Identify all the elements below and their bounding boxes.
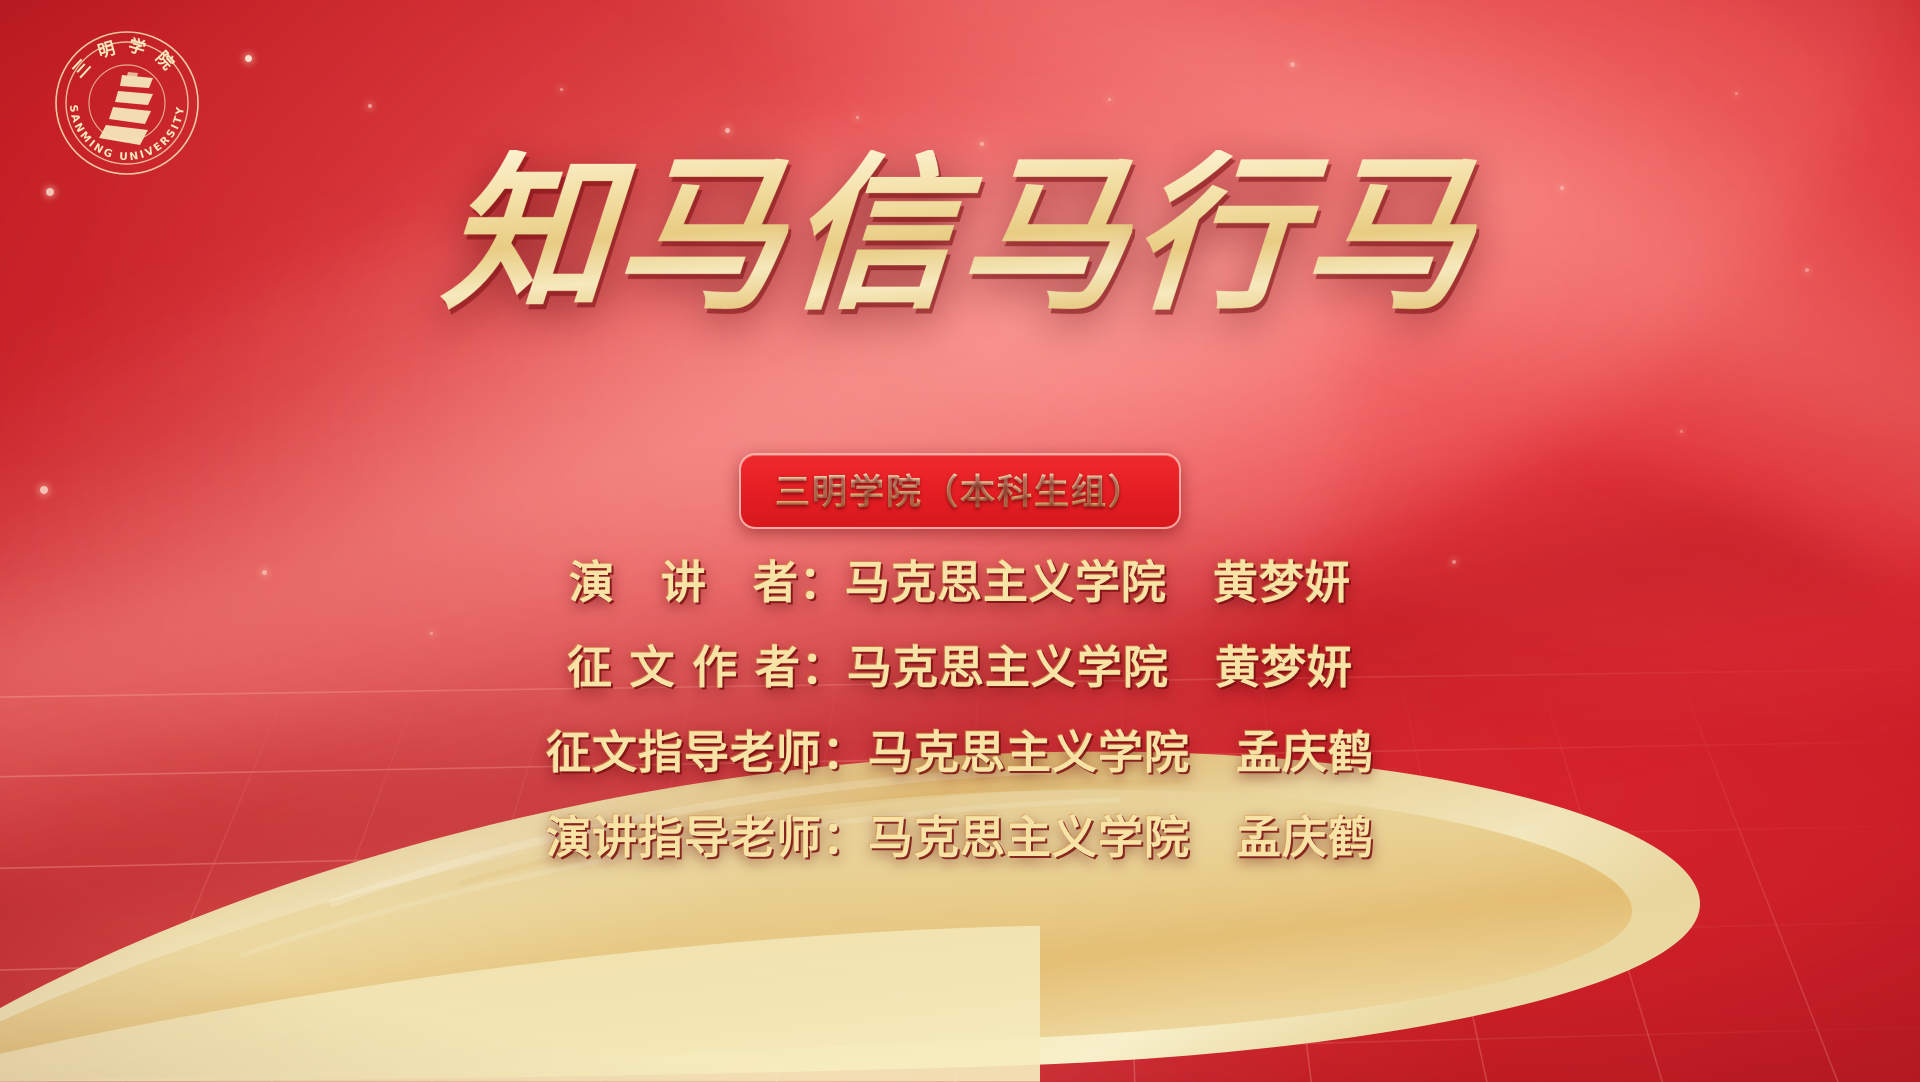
group-badge: 三明学院（本科生组） bbox=[739, 453, 1181, 529]
university-logo: 三明学院 SANMING UNIVERSITY bbox=[52, 28, 202, 178]
title-word-2: 信马 bbox=[782, 150, 1138, 318]
title-word-1: 知马 bbox=[438, 150, 794, 318]
badge-row: 三明学院（本科生组） bbox=[0, 453, 1920, 529]
credit-line-speaker: 演 讲 者：马克思主义学院 黄梦妍 bbox=[0, 540, 1920, 625]
title-card-stage: 三明学院 SANMING UNIVERSITY 知马信马行马 三明学院（本科生组… bbox=[0, 0, 1920, 1082]
group-badge-label: 三明学院（本科生组） bbox=[775, 473, 1145, 513]
main-title: 知马信马行马 bbox=[0, 150, 1920, 318]
credit-line-essay-advisor: 征文指导老师：马克思主义学院 孟庆鹤 bbox=[0, 710, 1920, 795]
credit-line-speech-advisor: 演讲指导老师：马克思主义学院 孟庆鹤 bbox=[0, 795, 1920, 880]
pagoda-icon bbox=[99, 72, 153, 145]
title-word-3: 行马 bbox=[1126, 150, 1482, 318]
credit-line-essay-author: 征 文 作 者：马克思主义学院 黄梦妍 bbox=[0, 625, 1920, 710]
credits-block: 演 讲 者：马克思主义学院 黄梦妍 征 文 作 者：马克思主义学院 黄梦妍 征文… bbox=[0, 540, 1920, 880]
